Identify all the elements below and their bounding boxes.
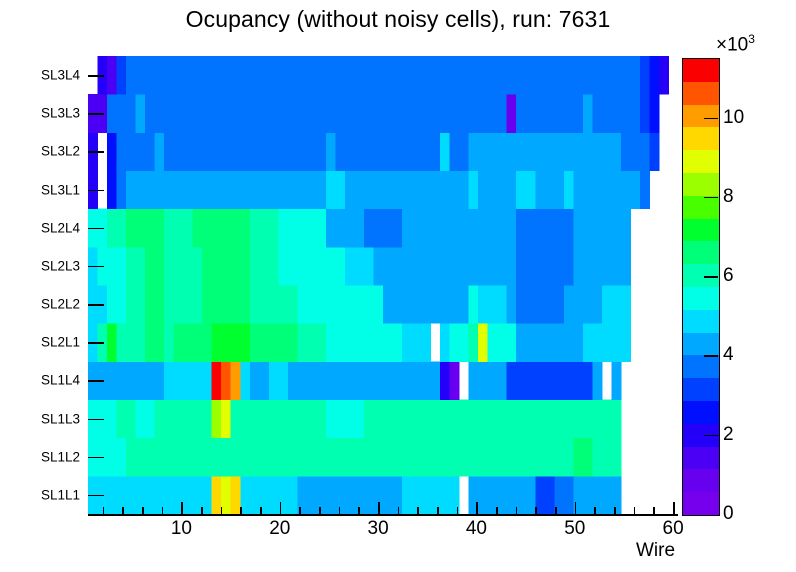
multiplier-exponent: 3: [748, 32, 755, 46]
color-scale-tick: [704, 435, 718, 437]
color-band: [683, 59, 719, 82]
y-axis-label: SL2L4: [41, 220, 80, 235]
color-band: [683, 333, 719, 356]
color-scale-multiplier: ×103: [716, 32, 755, 56]
color-band: [683, 173, 719, 196]
color-band: [683, 219, 719, 242]
x-axis-tick: [575, 502, 577, 514]
color-band: [683, 150, 719, 173]
y-axis-tick: [88, 342, 104, 344]
x-axis-tick: [299, 507, 301, 514]
y-axis-tick: [88, 457, 104, 459]
x-axis-tick: [634, 507, 636, 514]
x-axis-tick-label: 50: [564, 518, 585, 540]
x-axis-tick-label: 60: [663, 518, 684, 540]
color-scale-tick: [704, 118, 718, 120]
y-axis-label: SL3L2: [41, 144, 80, 159]
color-band: [683, 310, 719, 333]
color-scale-tick-label: 8: [723, 186, 734, 208]
y-axis-label: SL3L1: [41, 182, 80, 197]
x-axis-tick-label: 40: [466, 518, 487, 540]
y-axis-label: SL2L3: [41, 258, 80, 273]
x-axis-tick: [457, 507, 459, 514]
y-axis-tick: [88, 190, 104, 192]
color-band: [683, 378, 719, 401]
heatmap-cells: [88, 56, 678, 514]
y-axis-label: SL1L1: [41, 487, 80, 502]
y-axis-tick: [88, 151, 104, 153]
y-axis-label: SL1L3: [41, 411, 80, 426]
x-axis-tick: [653, 507, 655, 514]
root-canvas: Ocupancy (without noisy cells), run: 763…: [0, 0, 796, 572]
x-axis-tick: [122, 507, 124, 514]
color-band: [683, 241, 719, 264]
x-axis-tick: [417, 507, 419, 514]
y-axis-label: SL1L4: [41, 373, 80, 388]
y-axis-tick: [88, 304, 104, 306]
color-scale-tick: [704, 197, 718, 199]
x-axis-tick: [496, 507, 498, 514]
color-scale-tick-label: 2: [723, 424, 734, 446]
x-axis-tick: [103, 507, 105, 514]
heatmap-plot-area[interactable]: [88, 56, 678, 514]
color-band: [683, 492, 719, 515]
color-band: [683, 355, 719, 378]
y-axis-label: SL2L1: [41, 335, 80, 350]
x-axis-tick: [181, 502, 183, 514]
x-axis-tick-label: 30: [368, 518, 389, 540]
color-band: [683, 287, 719, 310]
x-axis-tick: [280, 502, 282, 514]
color-scale-tick: [704, 276, 718, 278]
color-band: [683, 447, 719, 470]
color-band: [683, 82, 719, 105]
x-axis-tick: [240, 507, 242, 514]
x-axis-tick: [535, 507, 537, 514]
color-scale-tick: [704, 355, 718, 357]
y-axis-tick: [88, 266, 104, 268]
page-title: Ocupancy (without noisy cells), run: 763…: [0, 6, 796, 33]
x-axis-tick-label: 20: [269, 518, 290, 540]
x-axis-tick: [555, 507, 557, 514]
color-band: [683, 105, 719, 128]
x-axis-tick: [260, 507, 262, 514]
color-band: [683, 127, 719, 150]
x-axis-title: Wire: [636, 540, 675, 562]
y-axis-tick: [88, 113, 104, 115]
x-axis-tick: [378, 502, 380, 514]
x-axis-tick: [221, 507, 223, 514]
x-axis-tick: [142, 507, 144, 514]
multiplier-base: 10: [727, 34, 748, 55]
x-axis-tick: [614, 507, 616, 514]
color-scale-tick-label: 10: [723, 107, 744, 129]
color-band: [683, 196, 719, 219]
y-axis-label: SL3L4: [41, 68, 80, 83]
x-axis-tick: [516, 507, 518, 514]
color-scale-bar[interactable]: [682, 58, 720, 516]
x-axis-tick: [358, 507, 360, 514]
color-band: [683, 401, 719, 424]
y-axis-tick: [88, 380, 104, 382]
x-axis-tick: [339, 507, 341, 514]
y-axis-tick: [88, 419, 104, 421]
y-axis-label: SL3L3: [41, 106, 80, 121]
x-axis-tick: [201, 507, 203, 514]
x-axis-tick: [594, 507, 596, 514]
x-axis-tick: [437, 507, 439, 514]
x-axis-tick-label: 10: [171, 518, 192, 540]
x-axis-tick: [476, 502, 478, 514]
color-band: [683, 469, 719, 492]
y-axis-tick: [88, 75, 104, 77]
x-axis-tick: [673, 502, 675, 514]
y-axis-label: SL2L2: [41, 297, 80, 312]
x-axis-tick: [162, 507, 164, 514]
color-scale-tick-label: 4: [723, 344, 734, 366]
x-axis-tick: [319, 507, 321, 514]
color-scale-tick-label: 0: [723, 503, 734, 525]
y-axis-tick: [88, 495, 104, 497]
multiplier-prefix: ×: [716, 34, 727, 55]
color-scale-tick-label: 6: [723, 265, 734, 287]
y-axis-label: SL1L2: [41, 449, 80, 464]
axis-line-bottom: [88, 514, 678, 516]
x-axis-tick: [398, 507, 400, 514]
y-axis-tick: [88, 228, 104, 230]
